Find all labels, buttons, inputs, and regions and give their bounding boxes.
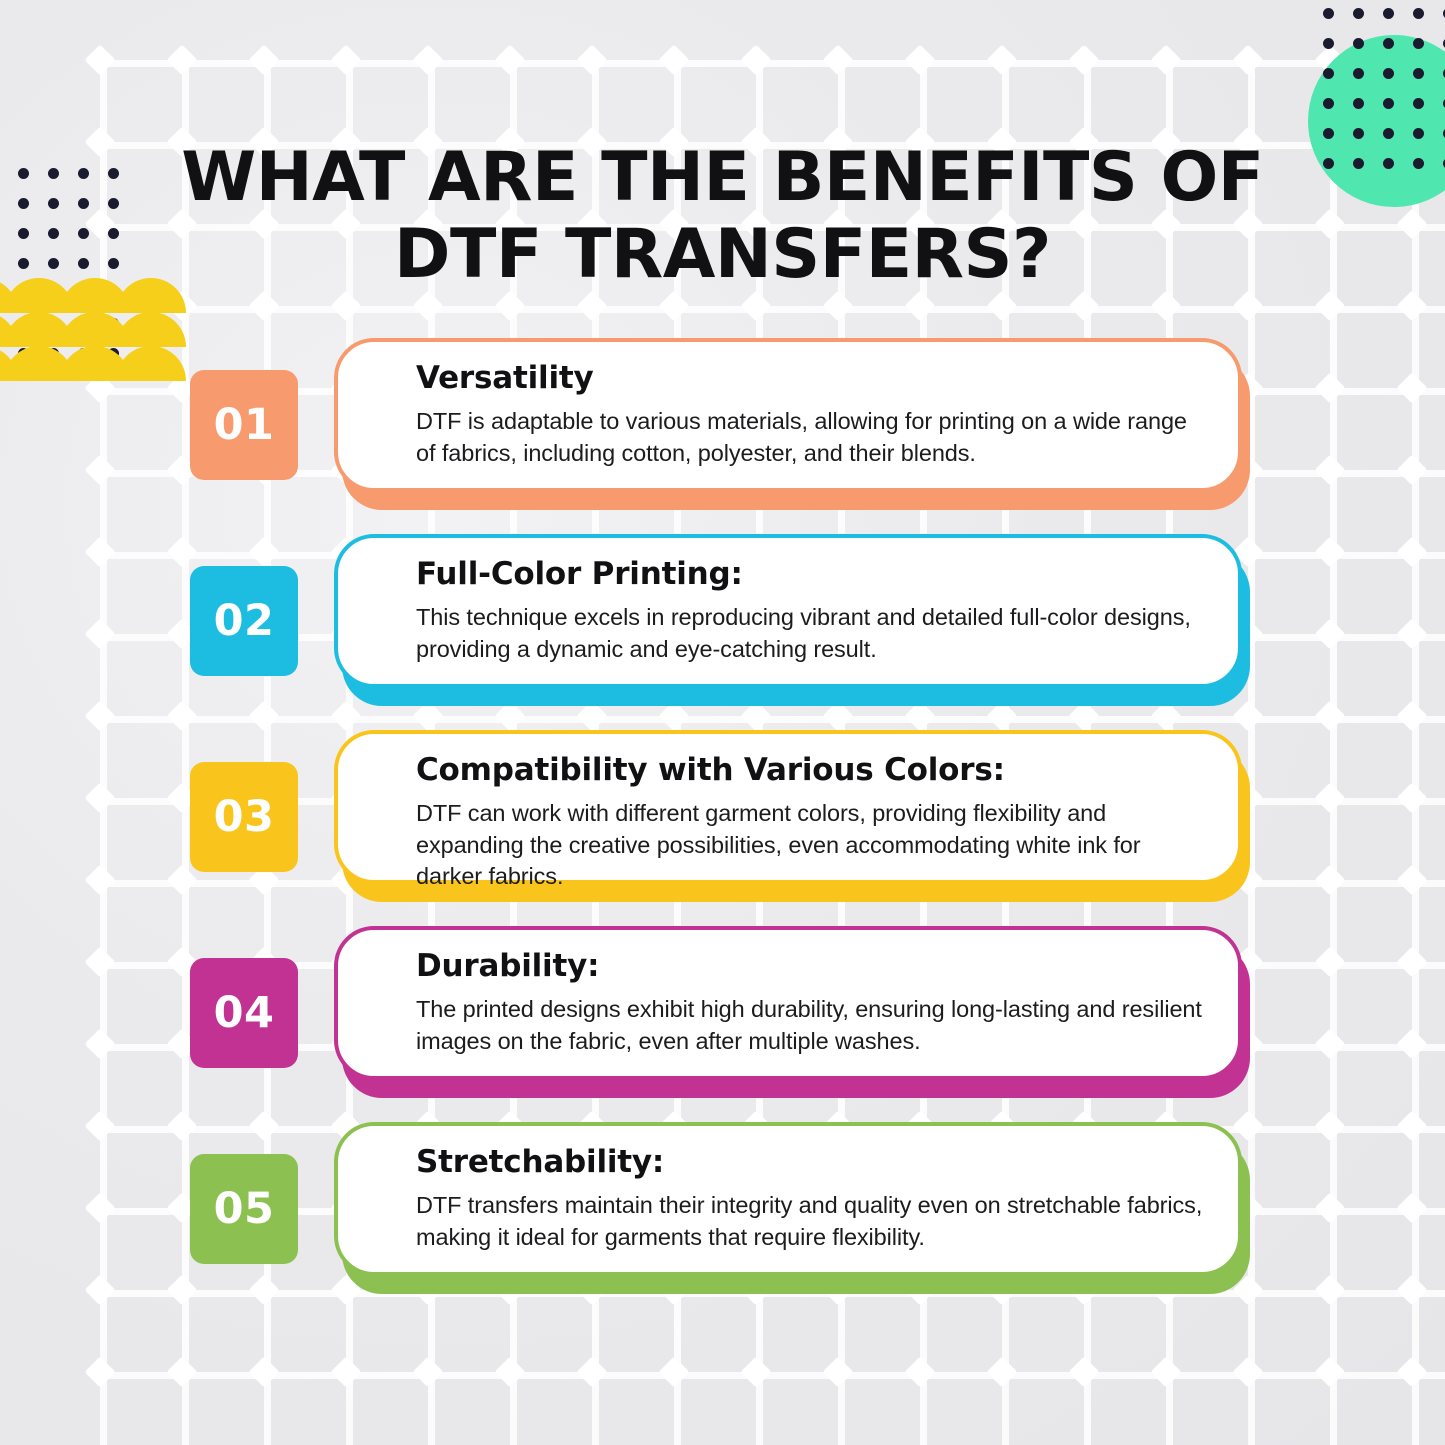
decorative-dot bbox=[1383, 128, 1394, 139]
decorative-dot bbox=[1323, 128, 1334, 139]
benefit-number-badge: 02 bbox=[190, 566, 298, 676]
benefit-description: DTF is adaptable to various materials, a… bbox=[416, 406, 1204, 469]
benefit-card-body: Durability:The printed designs exhibit h… bbox=[334, 926, 1242, 1080]
decorative-dot bbox=[48, 228, 59, 239]
benefit-number-badge: 05 bbox=[190, 1154, 298, 1264]
decorative-dot bbox=[48, 198, 59, 209]
benefit-card[interactable]: VersatilityDTF is adaptable to various m… bbox=[334, 338, 1250, 510]
page-title: WHAT ARE THE BENEFITS OF DTF TRANSFERS? bbox=[175, 140, 1270, 294]
benefit-card[interactable]: Full-Color Printing:This technique excel… bbox=[334, 534, 1250, 706]
decorative-dot bbox=[18, 198, 29, 209]
benefit-title: Durability: bbox=[416, 948, 1204, 985]
decorative-dot bbox=[108, 258, 119, 269]
decorative-dot bbox=[1383, 38, 1394, 49]
decorative-dot bbox=[1353, 98, 1364, 109]
benefit-description: This technique excels in reproducing vib… bbox=[416, 602, 1204, 665]
decorative-dot bbox=[18, 168, 29, 179]
benefit-card[interactable]: Stretchability:DTF transfers maintain th… bbox=[334, 1122, 1250, 1294]
decorative-dot bbox=[1413, 68, 1424, 79]
decorative-dot bbox=[1383, 158, 1394, 169]
decorative-dot bbox=[78, 198, 89, 209]
benefit-number-badge: 01 bbox=[190, 370, 298, 480]
benefit-number-badge: 03 bbox=[190, 762, 298, 872]
decorative-dot bbox=[108, 168, 119, 179]
decorative-dot bbox=[1413, 128, 1424, 139]
benefit-number-badge: 04 bbox=[190, 958, 298, 1068]
decorative-dot bbox=[1383, 8, 1394, 19]
decorative-dot bbox=[78, 168, 89, 179]
infographic-poster: WHAT ARE THE BENEFITS OF DTF TRANSFERS? … bbox=[0, 0, 1445, 1445]
decorative-dot bbox=[108, 228, 119, 239]
decorative-dot bbox=[1323, 68, 1334, 79]
benefit-row: 01VersatilityDTF is adaptable to various… bbox=[0, 338, 1445, 534]
benefit-description: DTF can work with different garment colo… bbox=[416, 798, 1204, 892]
benefit-title: Stretchability: bbox=[416, 1144, 1204, 1181]
decorative-dot bbox=[1353, 8, 1364, 19]
benefit-title: Full-Color Printing: bbox=[416, 556, 1204, 593]
benefit-row: 03Compatibility with Various Colors:DTF … bbox=[0, 730, 1445, 926]
decorative-dot bbox=[18, 228, 29, 239]
decorative-dot bbox=[1413, 158, 1424, 169]
decorative-dot bbox=[1323, 98, 1334, 109]
benefit-title: Compatibility with Various Colors: bbox=[416, 752, 1204, 789]
decorative-dot bbox=[1413, 98, 1424, 109]
benefit-description: The printed designs exhibit high durabil… bbox=[416, 994, 1204, 1057]
decorative-dot bbox=[18, 258, 29, 269]
benefit-description: DTF transfers maintain their integrity a… bbox=[416, 1190, 1204, 1253]
decorative-dot bbox=[48, 258, 59, 269]
decorative-dot bbox=[1323, 8, 1334, 19]
decorative-dot bbox=[1383, 98, 1394, 109]
benefit-card-body: VersatilityDTF is adaptable to various m… bbox=[334, 338, 1242, 492]
decorative-dot bbox=[1413, 38, 1424, 49]
benefit-card-body: Compatibility with Various Colors:DTF ca… bbox=[334, 730, 1242, 884]
decorative-dot bbox=[78, 228, 89, 239]
benefit-card[interactable]: Durability:The printed designs exhibit h… bbox=[334, 926, 1250, 1098]
decorative-dot bbox=[1323, 38, 1334, 49]
benefit-card-body: Full-Color Printing:This technique excel… bbox=[334, 534, 1242, 688]
decorative-dot bbox=[1383, 68, 1394, 79]
benefit-title: Versatility bbox=[416, 360, 1204, 397]
decorative-dot bbox=[1413, 8, 1424, 19]
decorative-dot bbox=[1353, 68, 1364, 79]
benefit-card[interactable]: Compatibility with Various Colors:DTF ca… bbox=[334, 730, 1250, 902]
benefit-row: 05Stretchability:DTF transfers maintain … bbox=[0, 1122, 1445, 1318]
benefit-card-body: Stretchability:DTF transfers maintain th… bbox=[334, 1122, 1242, 1276]
decorative-dot bbox=[1353, 158, 1364, 169]
decorative-dot bbox=[78, 258, 89, 269]
decorative-dot bbox=[1323, 158, 1334, 169]
decorative-dot bbox=[1353, 128, 1364, 139]
benefit-row: 04Durability:The printed designs exhibit… bbox=[0, 926, 1445, 1122]
benefits-list: 01VersatilityDTF is adaptable to various… bbox=[0, 338, 1445, 1318]
decorative-dot bbox=[48, 168, 59, 179]
decorative-dot bbox=[1353, 38, 1364, 49]
decorative-dot bbox=[108, 198, 119, 209]
benefit-row: 02Full-Color Printing:This technique exc… bbox=[0, 534, 1445, 730]
